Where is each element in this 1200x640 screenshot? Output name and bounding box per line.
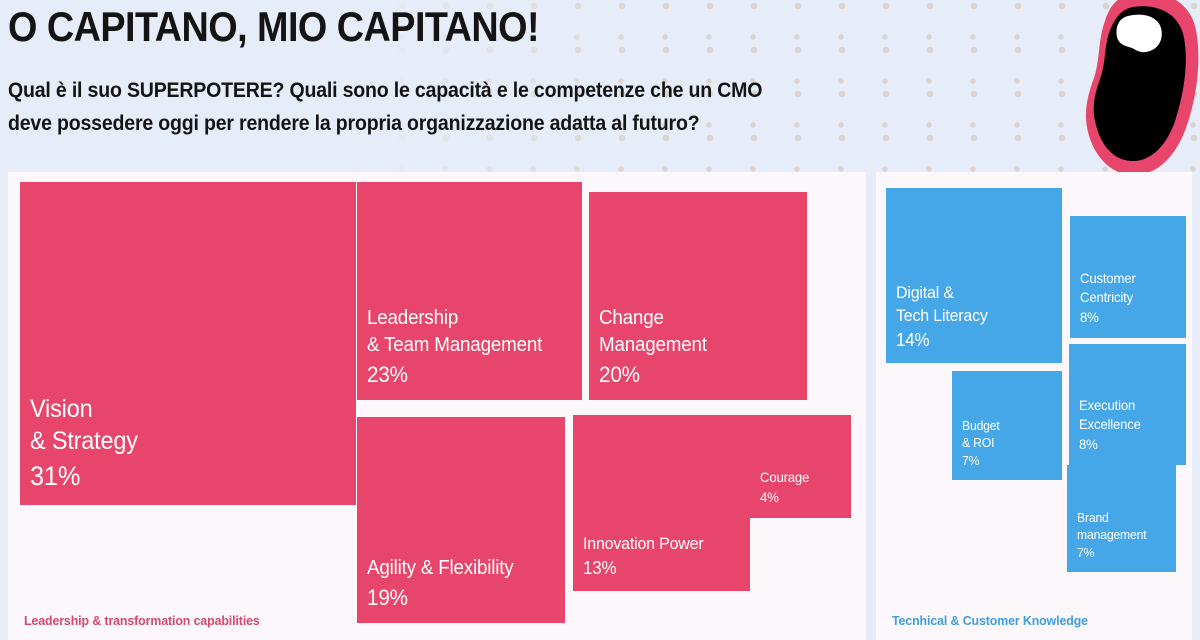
tile-value: 20% (599, 359, 785, 390)
tile-label-line-2: Excellence (1079, 415, 1170, 434)
tile-label-line-2: & Strategy (30, 425, 327, 457)
tile-label-line-1: Change (599, 305, 785, 332)
tile-label-line-2: Management (599, 332, 785, 359)
tile-label-line-1: Customer (1080, 269, 1170, 288)
panel-left-caption: Leadership & transformation capabilities (24, 613, 260, 628)
tile-label-line-2: Centricity (1080, 288, 1170, 307)
tile-label-line-2: & ROI (962, 434, 1047, 451)
treemap-tile-budget-roi[interactable]: Budget & ROI 7% (952, 371, 1062, 480)
page-subtitle: Qual è il suo SUPERPOTERE? Quali sono le… (8, 74, 845, 140)
tile-label-line-1: Budget (962, 417, 1047, 434)
treemap-tile-innovation-power[interactable]: Innovation Power 13% (573, 415, 750, 591)
panel-leadership-capabilities: Vision & Strategy 31% Leadership & Team … (8, 172, 866, 640)
tile-value: 4% (760, 487, 836, 508)
page-title: O CAPITANO, MIO CAPITANO! (8, 2, 539, 52)
treemap-tile-agility-flexibility[interactable]: Agility & Flexibility 19% (357, 417, 565, 623)
page-subtitle-line-2: deve possedere oggi per rendere la propr… (8, 107, 845, 140)
tile-value: 7% (962, 451, 1047, 470)
panel-right-caption: Tecnhical & Customer Knowledge (892, 613, 1088, 628)
tile-value: 14% (896, 327, 1043, 353)
slide-root: O CAPITANO, MIO CAPITANO! Qual è il suo … (0, 0, 1200, 640)
tile-value: 13% (583, 555, 731, 581)
tile-value: 31% (30, 457, 327, 495)
treemap-tile-customer-centricity[interactable]: Customer Centricity 8% (1070, 216, 1186, 338)
tile-label-line-1: Innovation Power (583, 532, 731, 555)
tile-value: 8% (1080, 307, 1170, 328)
tile-label-line-1: Brand (1077, 509, 1161, 526)
tile-value: 23% (367, 359, 560, 390)
tile-label-line-1: Digital & (896, 281, 1043, 304)
treemap-tile-brand-management[interactable]: Brand management 7% (1067, 465, 1176, 572)
tile-label-line-2: Tech Literacy (896, 304, 1043, 327)
treemap-tile-execution-excellence[interactable]: Execution Excellence 8% (1069, 344, 1186, 465)
tile-value: 7% (1077, 543, 1161, 562)
treemap-tile-courage[interactable]: Courage 4% (750, 415, 851, 518)
page-subtitle-line-1: Qual è il suo SUPERPOTERE? Quali sono le… (8, 74, 845, 107)
speech-blob-decoration (1074, 0, 1200, 190)
treemap-tile-vision-strategy[interactable]: Vision & Strategy 31% (20, 182, 356, 505)
tile-label-line-1: Agility & Flexibility (367, 555, 544, 582)
treemap-tile-change-management[interactable]: Change Management 20% (589, 192, 807, 400)
tile-label-line-2: & Team Management (367, 332, 560, 359)
tile-label-line-2: management (1077, 526, 1161, 543)
tile-label-line-1: Vision (30, 393, 327, 425)
panel-technical-customer-knowledge: Digital & Tech Literacy 14% Customer Cen… (876, 172, 1192, 640)
treemap-tile-leadership-team-management[interactable]: Leadership & Team Management 23% (357, 182, 582, 400)
tile-value: 19% (367, 582, 544, 613)
tile-label-line-1: Execution (1079, 396, 1170, 415)
tile-value: 8% (1079, 434, 1170, 455)
treemap-tile-digital-tech-literacy[interactable]: Digital & Tech Literacy 14% (886, 188, 1062, 363)
tile-label-line-1: Leadership (367, 305, 560, 332)
tile-label-line-1: Courage (760, 468, 836, 487)
